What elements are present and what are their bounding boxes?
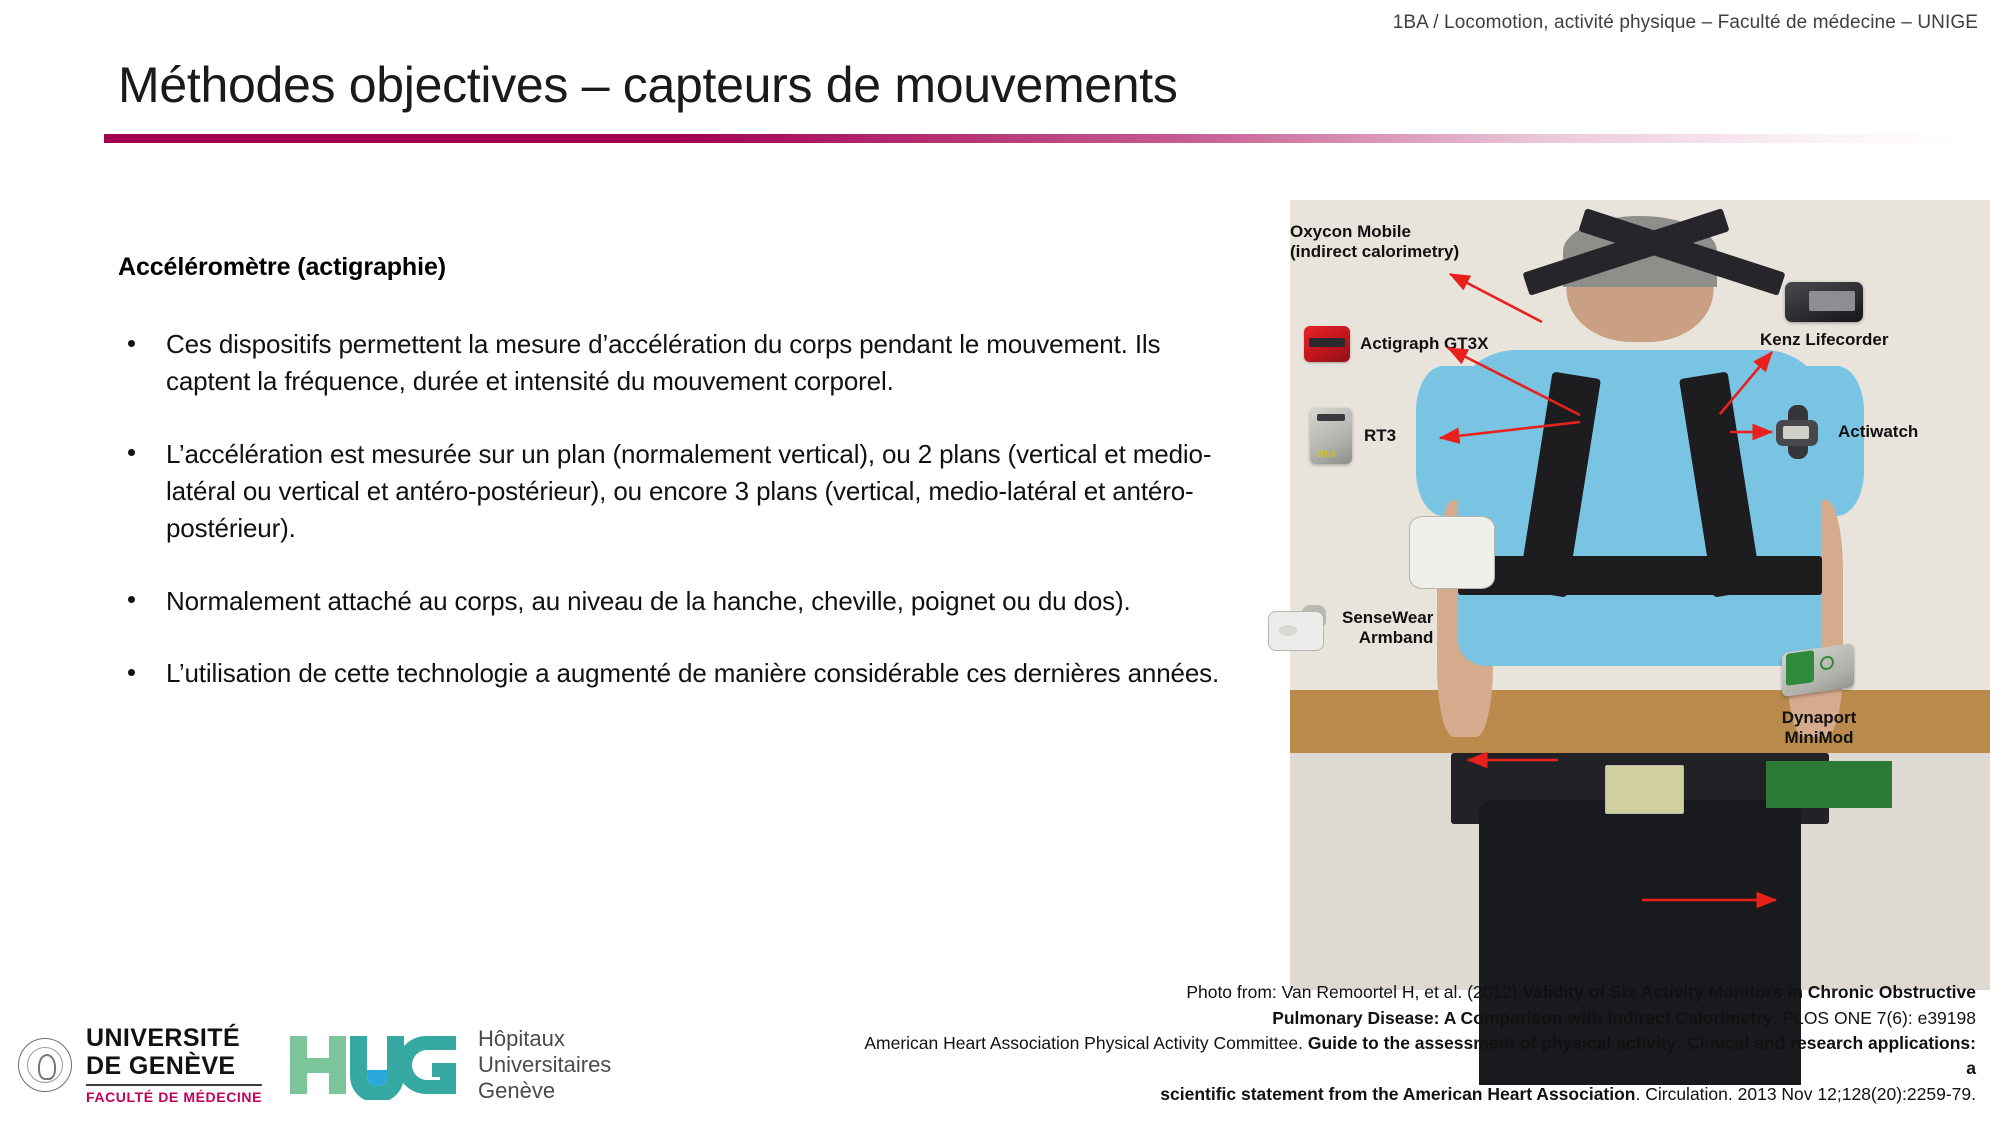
- hug-line1: Hôpitaux: [478, 1026, 611, 1052]
- thumb-actigraph-gt3x: Actigraph GT3X: [1304, 326, 1488, 362]
- label-dynaport-line1: Dynaport: [1782, 708, 1857, 727]
- citation-line-1: Photo from: Van Remoortel H, et al. (201…: [856, 980, 1976, 1005]
- list-item-text: L’utilisation de cette technologie a aug…: [166, 658, 1219, 688]
- page-title: Méthodes objectives – capteurs de mouvem…: [118, 56, 1178, 114]
- citation-line-2: Pulmonary Disease: A Comparison with Ind…: [856, 1006, 1976, 1031]
- actigraph-device-icon: [1304, 326, 1350, 362]
- title-underline-rule: [104, 134, 1962, 143]
- list-item-text: Normalement attaché au corps, au niveau …: [166, 586, 1131, 616]
- dynaport-green-label: [1766, 761, 1892, 808]
- unige-logo: UNIVERSITÉ DE GENÈVE FACULTÉ DE MÉDECINE: [18, 1026, 262, 1104]
- sensewear-device-icon: [1268, 605, 1330, 651]
- kenz-device-icon: [1785, 282, 1863, 322]
- citation-line-3: American Heart Association Physical Acti…: [856, 1031, 1976, 1082]
- thumb-kenz-lifecorder: Kenz Lifecorder: [1760, 282, 1888, 350]
- bullet-dot-icon: [128, 340, 135, 347]
- unige-crest-icon: [18, 1038, 72, 1092]
- bullet-dot-icon: [128, 449, 135, 456]
- hug-line3: Genève: [478, 1078, 611, 1104]
- list-item: Normalement attaché au corps, au niveau …: [118, 583, 1248, 620]
- label-dynaport: Dynaport MiniMod: [1780, 708, 1858, 747]
- citation-2-bold: Pulmonary Disease: A Comparison with Ind…: [1272, 1008, 1773, 1028]
- citation-line-4: scientific statement from the American H…: [856, 1082, 1976, 1107]
- label-oxycon-line2: (indirect calorimetry): [1290, 242, 1459, 261]
- actiwatch-face: [1776, 420, 1818, 446]
- sensewear-armband-on-arm: [1409, 516, 1495, 589]
- citation-1-plain: Photo from: Van Remoortel H, et al. (201…: [1186, 982, 1522, 1002]
- unige-line1: UNIVERSITÉ: [86, 1026, 262, 1051]
- label-actiwatch: Actiwatch: [1838, 422, 1918, 442]
- bullet-dot-icon: [128, 596, 135, 603]
- label-sensewear-line1: SenseWear: [1342, 608, 1433, 627]
- chest-strap: [1458, 556, 1822, 596]
- course-header: 1BA / Locomotion, activité physique – Fa…: [1393, 12, 1978, 34]
- label-sensewear: SenseWear Armband: [1342, 608, 1433, 647]
- label-kenz: Kenz Lifecorder: [1760, 330, 1888, 350]
- list-item: L’utilisation de cette technologie a aug…: [118, 655, 1248, 692]
- unige-crest-inner: [27, 1047, 63, 1083]
- citation-2-plain: . PLOS ONE 7(6): e39198: [1773, 1008, 1976, 1028]
- section-heading: Accéléromètre (actigraphie): [118, 253, 1248, 282]
- label-rt3: RT3: [1364, 426, 1396, 446]
- list-item: Ces dispositifs permettent la mesure d’a…: [118, 326, 1248, 400]
- unige-line2: DE GENÈVE: [86, 1054, 262, 1079]
- citation-4-plain: . Circulation. 2013 Nov 12;128(20):2259-…: [1636, 1084, 1977, 1104]
- unige-divider: [86, 1084, 262, 1086]
- citation-3-bold: Guide to the assessment of physical acti…: [1308, 1033, 1976, 1078]
- label-oxycon-mobile: Oxycon Mobile (indirect calorimetry): [1290, 222, 1459, 261]
- content-column: Accéléromètre (actigraphie) Ces disposit…: [118, 253, 1248, 692]
- thumb-dynaport-minimod: Dynaport MiniMod: [1780, 640, 1858, 747]
- rt3-device-icon: [1310, 408, 1352, 464]
- torso: [1458, 350, 1822, 666]
- citation-4-bold: scientific statement from the American H…: [1160, 1084, 1635, 1104]
- photo-back-view: [1290, 515, 1535, 845]
- unige-faculty: FACULTÉ DE MÉDECINE: [86, 1090, 262, 1104]
- actiwatch-device-icon: [1770, 405, 1826, 459]
- footer-logos: UNIVERSITÉ DE GENÈVE FACULTÉ DE MÉDECINE: [18, 1023, 611, 1107]
- bullet-list: Ces dispositifs permettent la mesure d’a…: [118, 326, 1248, 692]
- bullet-dot-icon: [128, 669, 135, 676]
- dynaport-green-label: [1786, 650, 1814, 686]
- thumb-sensewear-armband: SenseWear Armband: [1268, 605, 1433, 651]
- figure-area: Oxycon Mobile (indirect calorimetry) Act…: [1290, 200, 1990, 990]
- label-dynaport-line2: MiniMod: [1785, 728, 1854, 747]
- label-sensewear-line2: Armband: [1359, 628, 1434, 647]
- list-item-text: Ces dispositifs permettent la mesure d’a…: [166, 329, 1160, 396]
- citation-3-plain: American Heart Association Physical Acti…: [864, 1033, 1308, 1053]
- hug-name: Hôpitaux Universitaires Genève: [478, 1026, 611, 1104]
- thumb-actiwatch: Actiwatch: [1770, 405, 1918, 459]
- hug-line2: Universitaires: [478, 1052, 611, 1078]
- thumb-rt3: RT3: [1310, 408, 1396, 464]
- unige-wordmark: UNIVERSITÉ DE GENÈVE FACULTÉ DE MÉDECINE: [86, 1026, 262, 1104]
- label-oxycon-line1: Oxycon Mobile: [1290, 222, 1411, 241]
- label-actigraph: Actigraph GT3X: [1360, 334, 1488, 354]
- hug-wordmark-icon: [288, 1030, 460, 1100]
- sensewear-body: [1268, 611, 1324, 651]
- citation-1-bold: Validity of Six Activity Monitors in Chr…: [1523, 982, 1976, 1002]
- citation-block: Photo from: Van Remoortel H, et al. (201…: [856, 980, 1976, 1107]
- dynaport-on-belt: [1605, 765, 1684, 814]
- list-item-text: L’accélération est mesurée sur un plan (…: [166, 439, 1211, 543]
- slide: 1BA / Locomotion, activité physique – Fa…: [0, 0, 2000, 1125]
- dynaport-device-icon: [1780, 640, 1858, 700]
- hug-logo: Hôpitaux Universitaires Genève: [288, 1026, 611, 1104]
- list-item: L’accélération est mesurée sur un plan (…: [118, 436, 1248, 547]
